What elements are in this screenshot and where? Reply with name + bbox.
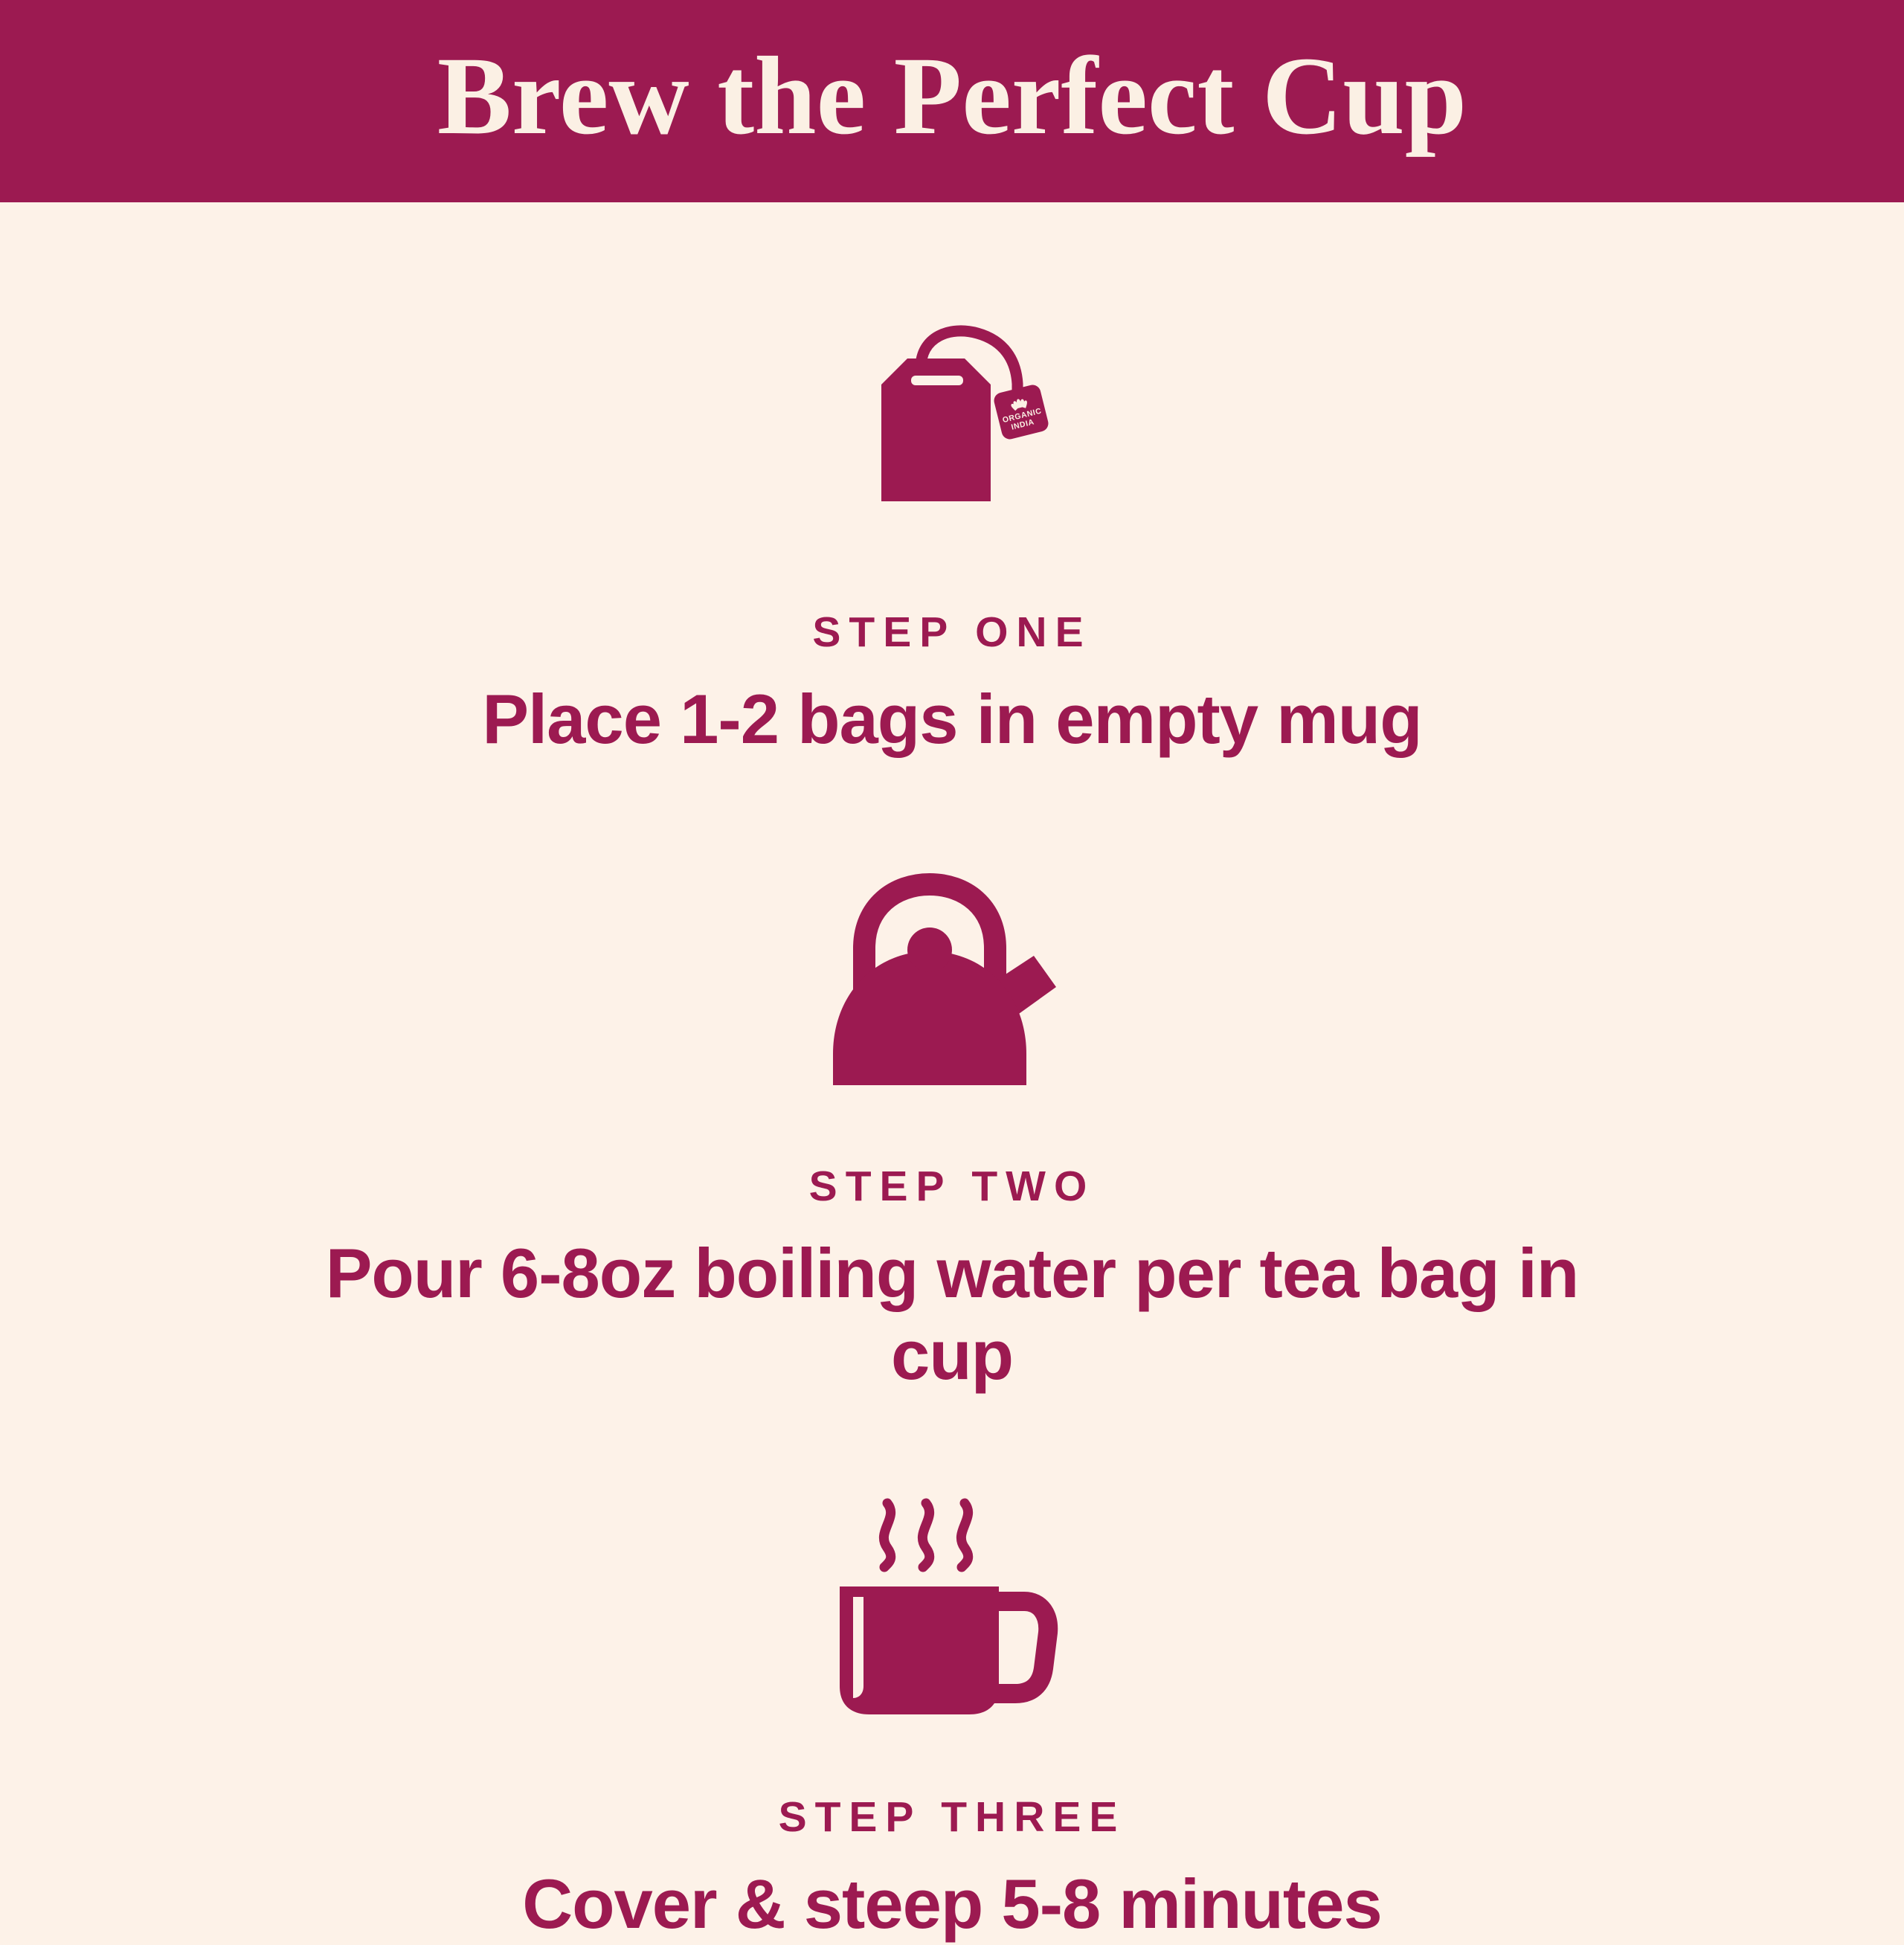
tea-bag-icon: ORGANIC INDIA [840, 306, 1064, 533]
step-item-one: ORGANIC INDIA STEP ONE Place 1-2 bags in… [0, 202, 1904, 760]
step-item-two: STEP TWO Pour 6-8oz boiling water per te… [0, 760, 1904, 1396]
kettle-icon [811, 868, 1093, 1095]
step-one-text: Place 1-2 bags in empty mug [482, 678, 1421, 760]
step-three-label: STEP THREE [779, 1796, 1126, 1839]
step-two-label: STEP TWO [809, 1166, 1096, 1208]
step-two-text: Pour 6-8oz boiling water per tea bag in … [320, 1232, 1584, 1396]
step-item-three: STEP THREE Cover & steep 5-8 minutes [0, 1396, 1904, 1945]
steps-list: ORGANIC INDIA STEP ONE Place 1-2 bags in… [0, 202, 1904, 1904]
page-title: Brew the Perfect Cup [437, 40, 1467, 162]
header-band: Brew the Perfect Cup [0, 0, 1904, 202]
brewing-instructions-page: Brew the Perfect Cup [0, 0, 1904, 1904]
steaming-mug-icon [829, 1491, 1075, 1726]
step-one-label: STEP ONE [812, 611, 1091, 654]
